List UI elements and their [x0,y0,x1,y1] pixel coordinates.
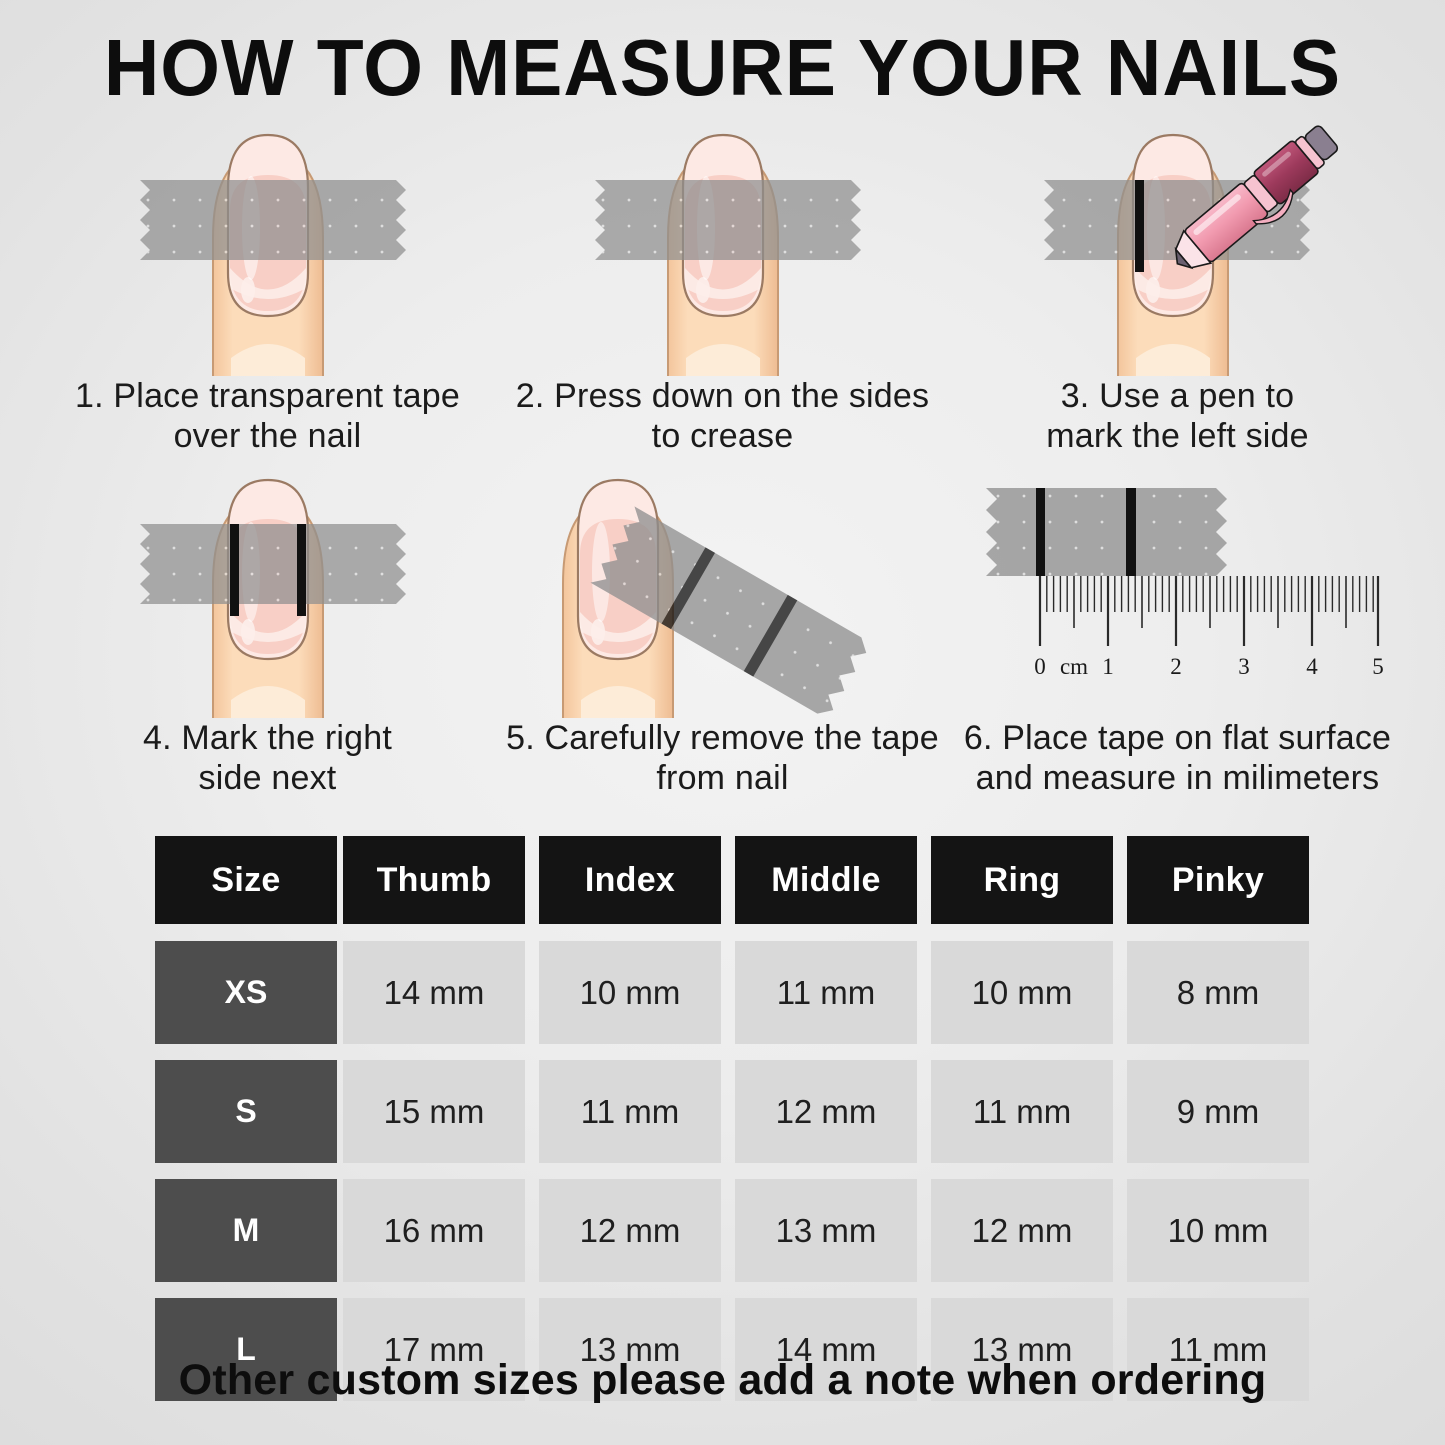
page-title: HOW TO MEASURE YOUR NAILS [29,28,1416,108]
cell-s-pinky: 9 mm [1127,1060,1309,1163]
table-header-thumb: Thumb [343,836,525,924]
table-header-pinky: Pinky [1127,836,1309,924]
step-3-caption: 3. Use a pen to mark the left side [950,376,1405,456]
step-5: 5. Carefully remove the tape from nail [495,466,950,814]
ruler-tick-3: 3 [1238,654,1250,679]
tape-strip [140,524,406,604]
table-row: M 16 mm 12 mm 13 mm 12 mm 10 mm [155,1179,1323,1282]
table-row: XS 14 mm 10 mm 11 mm 10 mm 8 mm [155,941,1323,1044]
step-5-illustration [495,466,950,718]
cell-xs-index: 10 mm [539,941,721,1044]
cell-m-ring: 12 mm [931,1179,1113,1282]
tape-strip [595,180,861,260]
cell-s-ring: 11 mm [931,1060,1113,1163]
size-label-m: M [155,1179,337,1282]
ruler-unit-label: cm [1059,654,1087,679]
step-6-caption-line1: 6. Place tape on flat surface [950,718,1405,758]
step-2: 2. Press down on the sides to crease [495,118,950,466]
tape-strip [986,488,1227,576]
ruler-tick-0: 0 [1034,654,1046,679]
step-4-caption-line1: 4. Mark the right [40,718,495,758]
cell-m-index: 12 mm [539,1179,721,1282]
cell-xs-thumb: 14 mm [343,941,525,1044]
step-6-caption: 6. Place tape on flat surface and measur… [950,718,1405,798]
step-4-illustration [40,466,495,718]
steps-grid: 1. Place transparent tape over the nail [40,118,1405,814]
table-body: XS 14 mm 10 mm 11 mm 10 mm 8 mm S 15 mm … [155,941,1323,1401]
step-2-caption: 2. Press down on the sides to crease [495,376,950,456]
step-5-caption-line1: 5. Carefully remove the tape [495,718,950,758]
step-3-illustration [950,118,1405,376]
cell-xs-pinky: 8 mm [1127,941,1309,1044]
step-6-caption-line2: and measure in milimeters [950,758,1405,798]
cell-s-thumb: 15 mm [343,1060,525,1163]
step-1: 1. Place transparent tape over the nail [40,118,495,466]
step-5-caption-line2: from nail [495,758,950,798]
size-label-xs: XS [155,941,337,1044]
size-table: Size Thumb Index Middle Ring Pinky XS 14… [155,836,1323,1417]
table-header-ring: Ring [931,836,1113,924]
step-3-caption-line2: mark the left side [950,416,1405,456]
right-mark [1126,488,1136,576]
step-6: 0 cm 1 2 3 4 5 6. Place tape on flat sur… [950,466,1405,814]
step-6-illustration: 0 cm 1 2 3 4 5 [950,466,1405,718]
cell-s-index: 11 mm [539,1060,721,1163]
right-mark [297,524,306,616]
footer-note: Other custom sizes please add a note whe… [0,1356,1445,1405]
table-header-row: Size Thumb Index Middle Ring Pinky [155,836,1323,924]
step-2-caption-line2: to crease [495,416,950,456]
step-3: 3. Use a pen to mark the left side [950,118,1405,466]
table-header-index: Index [539,836,721,924]
step-5-caption: 5. Carefully remove the tape from nail [495,718,950,798]
table-header-size: Size [155,836,337,924]
step-3-caption-line1: 3. Use a pen to [950,376,1405,416]
ruler-tick-1: 1 [1102,654,1114,679]
size-label-s: S [155,1060,337,1163]
table-row: S 15 mm 11 mm 12 mm 11 mm 9 mm [155,1060,1323,1163]
left-mark [1036,488,1045,576]
step-4-caption: 4. Mark the right side next [40,718,495,798]
step-2-caption-line1: 2. Press down on the sides [495,376,950,416]
step-1-illustration [40,118,495,376]
left-mark [1135,180,1144,272]
step-2-illustration [495,118,950,376]
cell-m-middle: 13 mm [735,1179,917,1282]
tape-strip [140,180,406,260]
ruler [1040,576,1378,646]
ruler-tick-2: 2 [1170,654,1182,679]
step-1-caption-line2: over the nail [40,416,495,456]
table-header-middle: Middle [735,836,917,924]
step-1-caption: 1. Place transparent tape over the nail [40,376,495,456]
step-4-caption-line2: side next [40,758,495,798]
infographic-page: HOW TO MEASURE YOUR NAILS [0,0,1445,1445]
left-mark [230,524,239,616]
cell-xs-ring: 10 mm [931,941,1113,1044]
cell-s-middle: 12 mm [735,1060,917,1163]
ruler-tick-4: 4 [1306,654,1318,679]
cell-xs-middle: 11 mm [735,941,917,1044]
cell-m-thumb: 16 mm [343,1179,525,1282]
step-4: 4. Mark the right side next [40,466,495,814]
step-1-caption-line1: 1. Place transparent tape [40,376,495,416]
ruler-tick-5: 5 [1372,654,1384,679]
cell-m-pinky: 10 mm [1127,1179,1309,1282]
